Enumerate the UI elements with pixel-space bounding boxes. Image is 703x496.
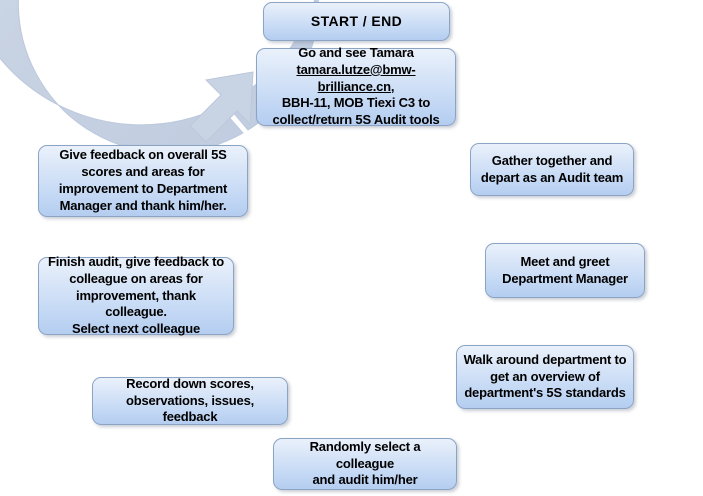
node-start-end[interactable]: START / END (263, 2, 450, 41)
node-gather-and-depart[interactable]: Gather together and depart as an Audit t… (470, 143, 634, 196)
node-randomly-select-colleague-label: Randomly select a colleague and audit hi… (280, 439, 450, 490)
node-give-feedback-overall-label: Give feedback on overall 5S scores and a… (45, 147, 241, 215)
line-1: Go and see Tamara (298, 45, 414, 60)
node-go-and-see-tamara-label: Go and see Tamaratamara.lutze@bmw-brilli… (263, 45, 449, 129)
node-record-down-scores[interactable]: Record down scores, observations, issues… (92, 377, 288, 425)
node-randomly-select-colleague[interactable]: Randomly select a colleague and audit hi… (273, 438, 457, 490)
node-meet-and-greet-manager[interactable]: Meet and greet Department Manager (485, 243, 645, 298)
node-meet-and-greet-manager-label: Meet and greet Department Manager (492, 254, 638, 288)
email-link[interactable]: tamara.lutze@bmw-brilliance.cn, (296, 62, 415, 94)
node-gather-and-depart-label: Gather together and depart as an Audit t… (477, 153, 627, 187)
node-give-feedback-overall[interactable]: Give feedback on overall 5S scores and a… (38, 145, 248, 217)
diagram-canvas: START / END Go and see Tamaratamara.lutz… (0, 0, 703, 496)
node-walk-around-department[interactable]: Walk around department to get an overvie… (456, 345, 634, 409)
node-finish-audit[interactable]: Finish audit, give feedback to colleague… (38, 257, 234, 335)
node-finish-audit-label: Finish audit, give feedback to colleague… (45, 254, 227, 338)
line-3: BBH-11, MOB Tiexi C3 to (282, 95, 430, 110)
line-4: collect/return 5S Audit tools (272, 112, 439, 127)
node-start-end-label: START / END (270, 12, 443, 30)
node-walk-around-department-label: Walk around department to get an overvie… (463, 352, 627, 403)
node-go-and-see-tamara[interactable]: Go and see Tamaratamara.lutze@bmw-brilli… (256, 48, 456, 126)
node-record-down-scores-label: Record down scores, observations, issues… (99, 376, 281, 427)
